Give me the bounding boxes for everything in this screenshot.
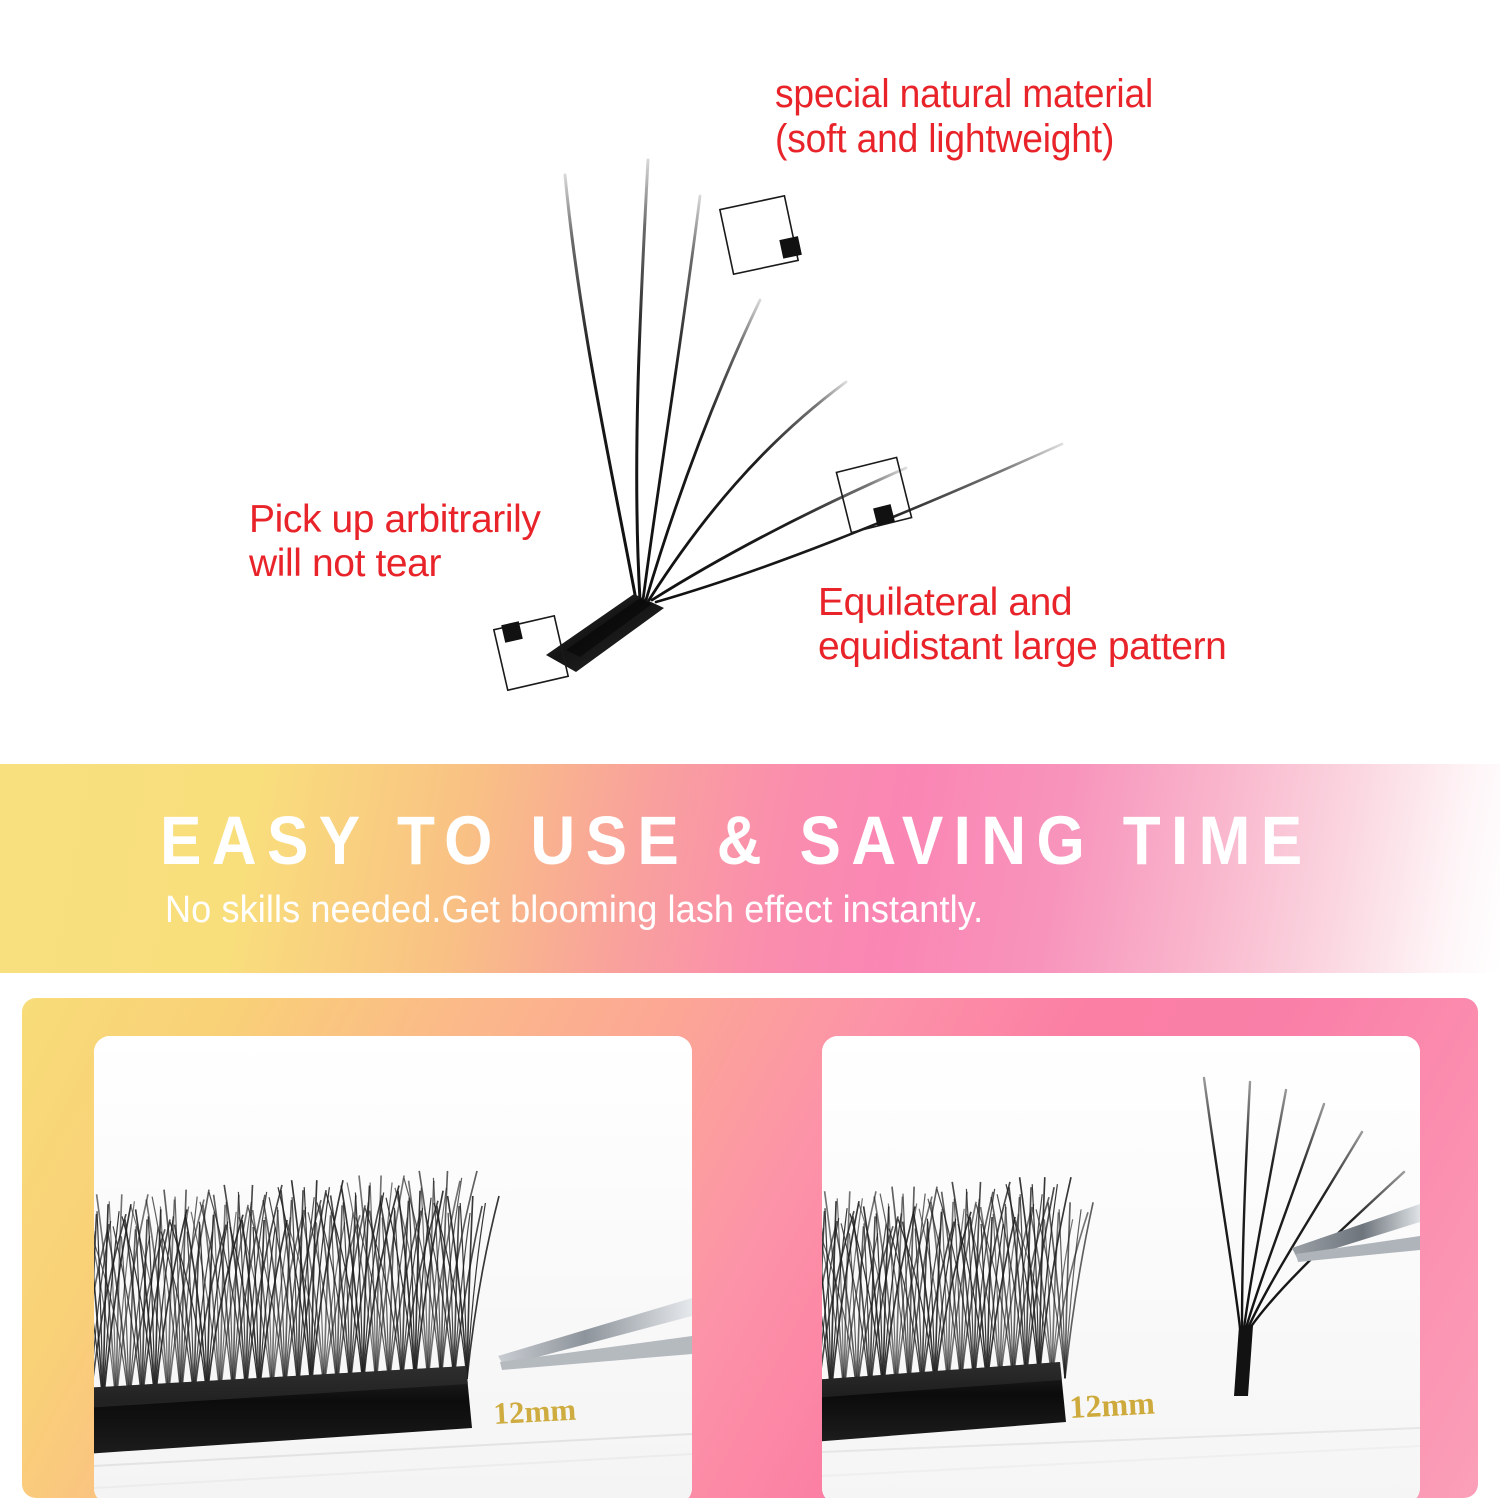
tray-caption-left: 12mm (493, 1392, 578, 1431)
lash-strands (565, 160, 1062, 602)
lash-fan-diagram-section: special natural material (soft and light… (0, 0, 1500, 764)
tray-caption-right: 12mm (1068, 1385, 1155, 1425)
lash-strip-photo-left: 12mm (94, 1036, 692, 1498)
photo-card-left: 12mm (94, 1036, 692, 1498)
lash-fan-illustration (0, 0, 1500, 764)
product-infographic: special natural material (soft and light… (0, 0, 1500, 1500)
callout-label-pickup: Pick up arbitrarily will not tear (249, 498, 541, 585)
banner-headline: EASY TO USE & SAVING TIME (160, 806, 1294, 875)
photo-panel: 12mm (22, 998, 1478, 1498)
callout-label-material: special natural material (soft and light… (775, 72, 1153, 162)
lash-pickup-photo-right: 12mm (822, 1036, 1420, 1498)
callout-label-equilateral: Equilateral and equidistant large patter… (818, 581, 1226, 668)
callout-marker-material (720, 196, 802, 274)
banner-subline: No skills needed.Get blooming lash effec… (165, 891, 983, 929)
photo-card-right: 12mm (822, 1036, 1420, 1498)
